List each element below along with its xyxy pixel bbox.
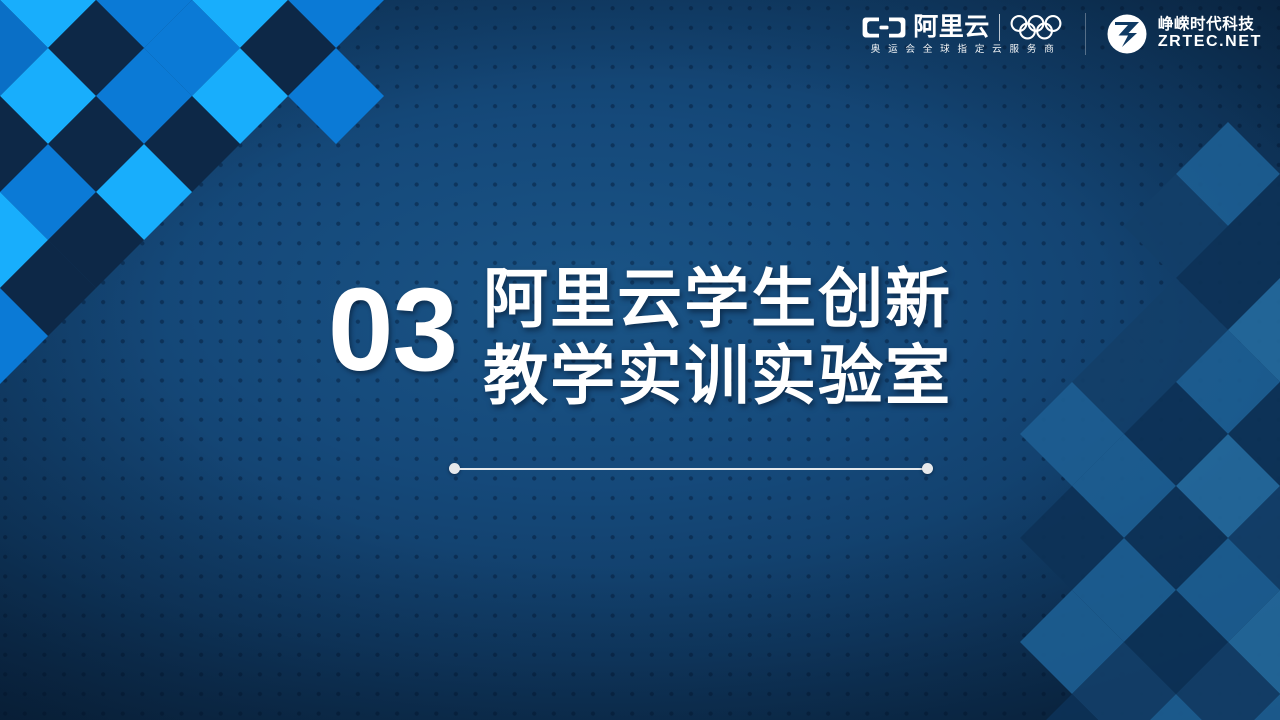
slide-canvas: 阿里云 奥 运 会 全 球 指 定 云 服 务 商 (0, 0, 1280, 720)
divider-line (459, 468, 923, 470)
zrtec-text-block: 峥嵘时代科技 ZRTEC.NET (1158, 17, 1262, 51)
logo-bar-separator (1085, 13, 1086, 55)
section-title-block: 03 阿里云学生创新 教学实训实验室 (0, 262, 1280, 414)
zrtec-z-mark-icon (1106, 13, 1148, 55)
alibaba-cloud-wordmark: 阿里云 (862, 15, 990, 40)
alibaba-cloud-logo: 阿里云 奥 运 会 全 球 指 定 云 服 务 商 (862, 14, 1065, 55)
section-number: 03 (328, 276, 457, 385)
alibaba-cloud-logo-row: 阿里云 (862, 14, 1065, 41)
alibaba-cloud-subtitle: 奥 运 会 全 球 指 定 云 服 务 商 (871, 45, 1057, 55)
title-divider-rule (449, 461, 933, 476)
logo-inner-divider (999, 14, 1000, 41)
zrtec-name-cn: 峥嵘时代科技 (1158, 17, 1262, 33)
zrtec-logo: 峥嵘时代科技 ZRTEC.NET (1106, 13, 1262, 55)
section-title-lines: 阿里云学生创新 教学实训实验室 (483, 262, 952, 414)
divider-dot-right (922, 463, 933, 474)
olympic-rings-icon (1009, 14, 1065, 40)
alibaba-cloud-wordmark-cn: 阿里云 (913, 15, 990, 40)
section-title-line-2: 教学实训实验室 (483, 339, 952, 414)
section-title-inner: 03 阿里云学生创新 教学实训实验室 (328, 262, 952, 414)
alibaba-cloud-mark-icon (862, 15, 906, 40)
header-logo-bar: 阿里云 奥 运 会 全 球 指 定 云 服 务 商 (862, 13, 1262, 55)
section-title-line-1: 阿里云学生创新 (483, 262, 952, 337)
zrtec-name-en: ZRTEC.NET (1158, 34, 1262, 51)
